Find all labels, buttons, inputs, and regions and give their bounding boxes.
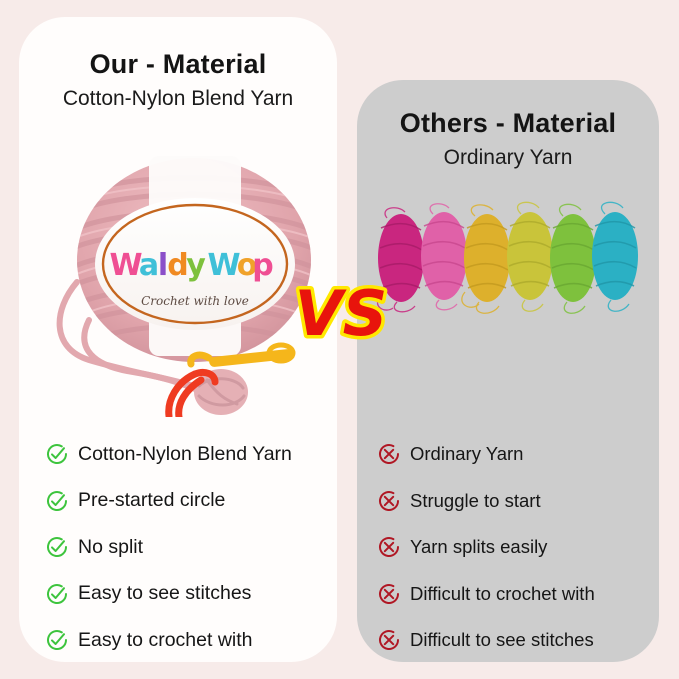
others-feature-list: Ordinary Yarn Struggle to start Yarn spl… [357,431,659,662]
others-panel-subtitle: Ordinary Yarn [357,145,659,170]
others-material-panel: Others - Material Ordinary Yarn [357,80,659,662]
feature-label: Difficult to crochet with [410,585,595,604]
list-item: Difficult to crochet with [377,571,659,618]
feature-label: Pre-started circle [78,491,225,511]
list-item: Yarn splits easily [377,524,659,571]
brand-tagline: Crochet with love [141,294,249,308]
x-circle-icon [377,582,401,606]
check-circle-icon [45,628,69,652]
feature-label: Easy to crochet with [78,631,253,651]
feature-label: Struggle to start [410,492,541,511]
brand-letter: p [252,248,273,283]
others-panel-heading: Others - Material Ordinary Yarn [357,108,659,170]
brand-letter: y [186,248,206,283]
feature-label: Easy to see stitches [78,584,251,604]
yarn-skein [507,202,553,311]
pre-started-circle [194,369,248,415]
yarn-skein [550,204,596,313]
list-item: Struggle to start [377,478,659,525]
yarn-skein [421,204,467,310]
check-circle-icon [45,582,69,606]
brand-letter: a [139,248,159,283]
our-feature-list: Cotton-Nylon Blend Yarn Pre-started circ… [19,431,337,662]
brand-letter: W [207,248,240,283]
list-item: Cotton-Nylon Blend Yarn [45,431,337,478]
brand-wordmark: W a l d y W o p [109,248,273,283]
feature-label: Ordinary Yarn [410,445,523,464]
feature-label: Yarn splits easily [410,538,547,557]
our-panel-title: Our - Material [19,49,337,80]
feature-label: Cotton-Nylon Blend Yarn [78,445,292,465]
list-item: Difficult to see stitches [377,617,659,662]
vs-label: VS [295,277,388,350]
brand-letter: W [109,248,142,283]
check-circle-icon [45,535,69,559]
x-circle-icon [377,535,401,559]
yarn-skein [592,202,638,311]
list-item: No split [45,524,337,571]
others-yarn-skeins-image [375,188,645,323]
feature-label: No split [78,538,143,558]
our-material-panel: Our - Material Cotton-Nylon Blend Yarn [19,17,337,662]
check-circle-icon [45,442,69,466]
check-circle-icon [45,489,69,513]
vs-badge: VS [291,273,391,353]
x-circle-icon [377,442,401,466]
list-item: Easy to see stitches [45,571,337,618]
list-item: Pre-started circle [45,478,337,525]
comparison-infographic: Our - Material Cotton-Nylon Blend Yarn [0,0,679,679]
x-circle-icon [377,489,401,513]
our-panel-heading: Our - Material Cotton-Nylon Blend Yarn [19,49,337,111]
yarn-skein [462,205,510,313]
others-panel-title: Others - Material [357,108,659,139]
our-panel-subtitle: Cotton-Nylon Blend Yarn [19,86,337,111]
feature-label: Difficult to see stitches [410,631,594,650]
list-item: Easy to crochet with [45,617,337,662]
list-item: Ordinary Yarn [377,431,659,478]
x-circle-icon [377,628,401,652]
